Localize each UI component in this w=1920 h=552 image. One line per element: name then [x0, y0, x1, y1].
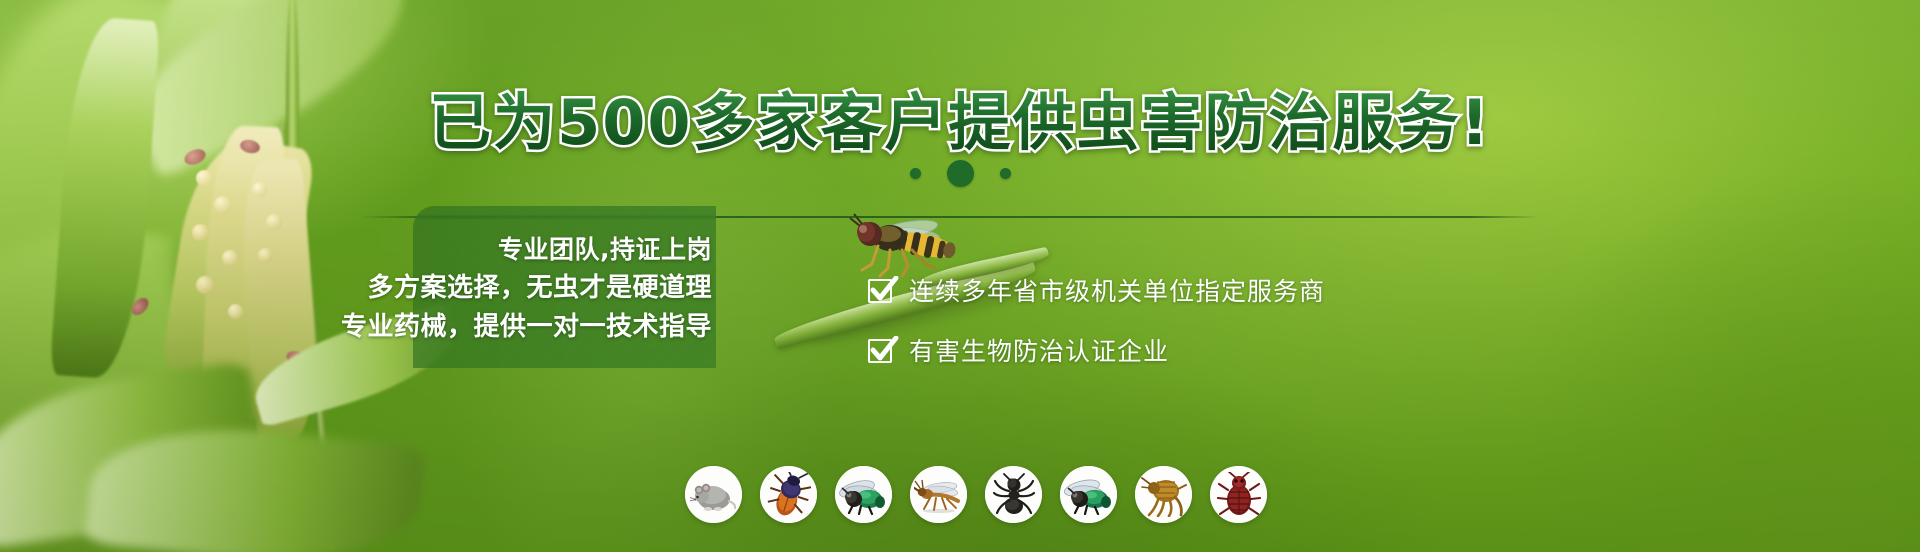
- pest-control-banner: 已为500多家客户提供虫害防治服务! 已为500多家客户提供虫害防治服务! 专业…: [0, 0, 1920, 552]
- feature-item: 连续多年省市级机关单位指定服务商: [868, 272, 1325, 308]
- checkbox-checked-icon: [868, 276, 896, 304]
- housefly-icon[interactable]: [1060, 466, 1117, 523]
- mosquito-icon[interactable]: [910, 466, 967, 523]
- feature-label: 有害生物防治认证企业: [909, 332, 1169, 368]
- decorative-dot-large-center: [947, 160, 974, 187]
- flea-icon[interactable]: [1135, 466, 1192, 523]
- blowfly-icon[interactable]: [835, 466, 892, 523]
- ant-icon[interactable]: [985, 466, 1042, 523]
- feature-label: 连续多年省市级机关单位指定服务商: [909, 272, 1325, 308]
- pest-icon-row: [685, 466, 1267, 523]
- slogan-line-1: 专业团队,持证上岗: [498, 237, 712, 262]
- decorative-dot-row: [0, 160, 1920, 187]
- rodent-mouse-icon[interactable]: [685, 466, 742, 523]
- slogan-list: 专业团队,持证上岗 多方案选择，无虫才是硬道理 专业药械，提供一对一技术指导: [330, 212, 726, 364]
- slogan-line-2: 多方案选择，无虫才是硬道理: [367, 275, 712, 301]
- slogan-line-3: 专业药械，提供一对一技术指导: [341, 314, 712, 340]
- feature-item: 有害生物防治认证企业: [868, 332, 1325, 368]
- checkbox-checked-icon: [868, 336, 896, 364]
- decorative-dot-small-right: [1000, 168, 1011, 179]
- feature-list: 连续多年省市级机关单位指定服务商 有害生物防治认证企业: [868, 272, 1325, 368]
- bedbug-icon[interactable]: [1210, 466, 1267, 523]
- cockroach-icon[interactable]: [760, 466, 817, 523]
- decorative-dot-small-left: [910, 168, 921, 179]
